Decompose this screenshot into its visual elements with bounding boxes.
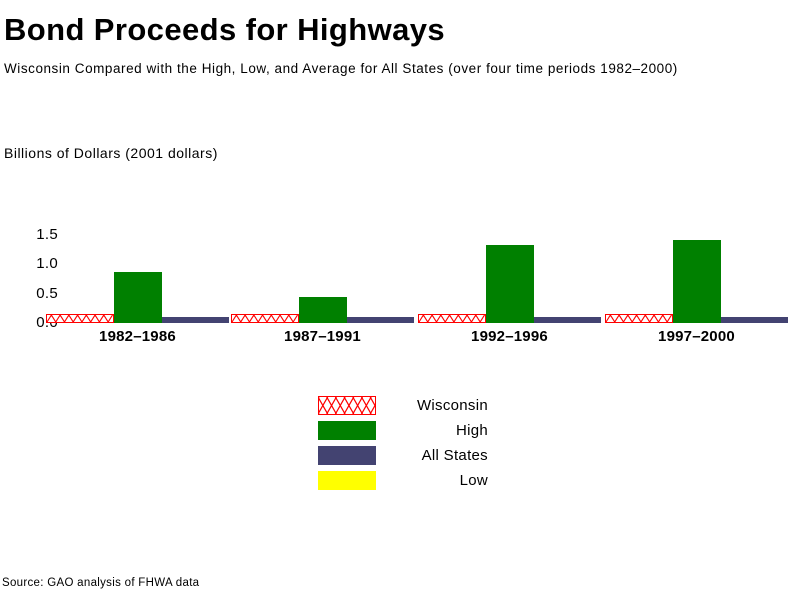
legend-item: All States: [318, 446, 488, 466]
bar-high: [673, 240, 721, 323]
legend-swatch: [318, 446, 376, 465]
legend-swatch: [318, 421, 376, 440]
chart-canvas: Bond Proceeds for Highways Wisconsin Com…: [0, 0, 800, 600]
cross-hatch-pattern: [419, 315, 485, 322]
x-tick-label: 1992–1996: [418, 329, 601, 344]
x-tick-label: 1987–1991: [231, 329, 414, 344]
legend-label: Wisconsin: [376, 397, 488, 415]
legend-label: All States: [376, 447, 488, 465]
y-tick-label: 1.5: [12, 227, 58, 242]
x-tick-label: 1982–1986: [46, 329, 229, 344]
legend-swatch: [318, 471, 376, 490]
legend-item: High: [318, 421, 488, 441]
chart-subtitle: Wisconsin Compared with the High, Low, a…: [4, 62, 678, 76]
bar-high: [486, 245, 534, 323]
legend-swatch: [318, 396, 376, 415]
plot-area: 0.00.51.01.5 1982–19861987–19911992–1996…: [0, 200, 800, 360]
y-tick-label: 1.0: [12, 256, 58, 271]
bar-all-states: [347, 317, 414, 323]
bar-all-states: [721, 317, 788, 323]
legend-item: Wisconsin: [318, 396, 488, 416]
y-tick-label: 0.5: [12, 286, 58, 301]
chart-legend: WisconsinHighAll StatesLow: [318, 396, 488, 490]
cross-hatch-pattern: [606, 315, 672, 322]
bar-high: [299, 297, 347, 323]
chart-title: Bond Proceeds for Highways: [4, 14, 445, 45]
cross-hatch-pattern: [47, 315, 113, 322]
bar-wisconsin: [231, 314, 299, 323]
legend-item: Low: [318, 471, 488, 491]
source-note: Source: GAO analysis of FHWA data: [2, 578, 199, 590]
x-tick-label: 1997–2000: [605, 329, 788, 344]
bar-wisconsin: [46, 314, 114, 323]
cross-hatch-pattern: [232, 315, 298, 322]
bar-high: [114, 272, 162, 323]
legend-label: Low: [376, 472, 488, 490]
bar-all-states: [162, 317, 229, 323]
y-axis-title: Billions of Dollars (2001 dollars): [4, 146, 218, 160]
legend-label: High: [376, 422, 488, 440]
bar-wisconsin: [605, 314, 673, 323]
cross-hatch-pattern: [319, 397, 375, 414]
bar-wisconsin: [418, 314, 486, 323]
bar-all-states: [534, 317, 601, 323]
